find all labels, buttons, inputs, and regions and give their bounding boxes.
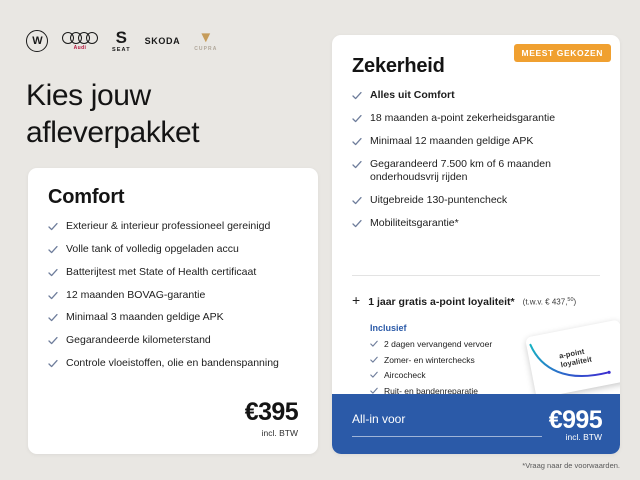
- list-item-label: Volle tank of volledig opgeladen accu: [66, 243, 239, 257]
- skoda-logo: SKODA: [145, 36, 181, 46]
- audi-logo: Audi: [62, 32, 98, 51]
- loyalty-value-suffix: ): [574, 298, 577, 307]
- list-item-label: Mobiliteitsgarantie*: [370, 217, 459, 231]
- list-item: Gegarandeerde kilometerstand: [48, 334, 298, 348]
- loyalty-bonus-label: 1 jaar gratis a-point loyaliteit*: [368, 296, 514, 308]
- footnote: *Vraag naar de voorwaarden.: [522, 461, 620, 470]
- zekerheid-package-card[interactable]: MEEST GEKOZEN Zekerheid Alles uit Comfor…: [332, 35, 620, 454]
- allin-label: All-in voor: [352, 412, 405, 426]
- section-divider: [352, 275, 600, 276]
- list-item: Minimaal 3 maanden geldige APK: [48, 311, 298, 325]
- list-item-label: Gegarandeerd 7.500 km of 6 maanden onder…: [370, 158, 602, 186]
- zekerheid-price: €995: [549, 406, 602, 435]
- seat-logo-label: SEAT: [112, 47, 131, 53]
- check-icon: [48, 222, 58, 232]
- list-item-label: Minimaal 12 maanden geldige APK: [370, 135, 533, 149]
- audi-logo-label: Audi: [74, 45, 87, 51]
- cupra-logo-label: CUPRA: [194, 46, 217, 52]
- seat-logo: S SEAT: [112, 30, 131, 53]
- check-icon: [352, 219, 362, 229]
- check-icon: [48, 291, 58, 301]
- cupra-icon: ▼: [198, 31, 213, 45]
- skoda-logo-label: SKODA: [145, 36, 181, 46]
- offer-page: W Audi S SEAT SKODA ▼ CUPRA Kies jouw af…: [0, 0, 640, 480]
- loyalty-bonus-value: (t.w.v. € 437,50): [523, 297, 577, 307]
- list-item: Uitgebreide 130-puntencheck: [352, 194, 602, 208]
- volkswagen-logo: W: [26, 30, 48, 52]
- list-item: Alles uit Comfort: [352, 89, 602, 103]
- comfort-title: Comfort: [48, 186, 124, 209]
- list-item: Batterijtest met State of Health certifi…: [48, 266, 298, 280]
- list-item: 18 maanden a-point zekerheidsgarantie: [352, 112, 602, 126]
- check-icon: [48, 313, 58, 323]
- plus-icon: +: [352, 293, 360, 307]
- check-icon: [370, 371, 378, 379]
- list-item-label: Gegarandeerde kilometerstand: [66, 334, 211, 348]
- check-icon: [352, 137, 362, 147]
- zekerheid-feature-list: Alles uit Comfort 18 maanden a-point zek…: [352, 89, 602, 240]
- list-item-label: Uitgebreide 130-puntencheck: [370, 194, 507, 208]
- list-item: Mobiliteitsgarantie*: [352, 217, 602, 231]
- comfort-price: €395: [245, 398, 298, 427]
- cupra-logo: ▼ CUPRA: [194, 31, 217, 52]
- list-item-label: Controle vloeistoffen, olie en bandenspa…: [66, 357, 279, 371]
- seat-icon: S: [113, 30, 130, 46]
- loyalty-value-prefix: (t.w.v. € 437,: [523, 298, 568, 307]
- check-icon: [48, 336, 58, 346]
- status-badge: MEEST GEKOZEN: [514, 44, 611, 62]
- comfort-price-block: €395 incl. BTW: [245, 398, 298, 438]
- list-item: 12 maanden BOVAG-garantie: [48, 289, 298, 303]
- check-icon: [48, 268, 58, 278]
- audi-rings-icon: [62, 32, 98, 44]
- list-item: Gegarandeerd 7.500 km of 6 maanden onder…: [352, 158, 602, 186]
- list-item: Exterieur & interieur professioneel gere…: [48, 220, 298, 234]
- check-icon: [352, 91, 362, 101]
- comfort-package-card[interactable]: Comfort Exterieur & interieur profession…: [28, 168, 318, 454]
- zekerheid-price-bar: All-in voor €995 incl. BTW: [332, 394, 620, 454]
- list-item-label: Aircocheck: [384, 370, 426, 381]
- check-icon: [352, 196, 362, 206]
- check-icon: [352, 114, 362, 124]
- list-item-label: 12 maanden BOVAG-garantie: [66, 289, 205, 303]
- loyalty-bonus-row: + 1 jaar gratis a-point loyaliteit* (t.w…: [352, 293, 614, 308]
- list-item: Minimaal 12 maanden geldige APK: [352, 135, 602, 149]
- list-item-label: Alles uit Comfort: [370, 89, 455, 103]
- zekerheid-title: Zekerheid: [352, 55, 445, 78]
- comfort-feature-list: Exterieur & interieur professioneel gere…: [48, 220, 298, 380]
- list-item-label: Batterijtest met State of Health certifi…: [66, 266, 256, 280]
- check-icon: [48, 359, 58, 369]
- list-item-label: 2 dagen vervangend vervoer: [384, 339, 492, 350]
- list-item-label: Minimaal 3 maanden geldige APK: [66, 311, 224, 325]
- list-item-label: Zomer- en winterchecks: [384, 355, 475, 366]
- brand-logo-strip: W Audi S SEAT SKODA ▼ CUPRA: [26, 28, 217, 54]
- check-icon: [370, 356, 378, 364]
- zekerheid-vat-label: incl. BTW: [566, 432, 602, 442]
- comfort-vat-label: incl. BTW: [245, 428, 298, 438]
- volkswagen-icon: W: [26, 30, 48, 52]
- check-icon: [352, 160, 362, 170]
- list-item-label: Exterieur & interieur professioneel gere…: [66, 220, 270, 234]
- inclusief-title: Inclusief: [370, 323, 560, 333]
- list-item-label: 18 maanden a-point zekerheidsgarantie: [370, 112, 555, 126]
- list-item: Controle vloeistoffen, olie en bandenspa…: [48, 357, 298, 371]
- check-icon: [370, 340, 378, 348]
- list-item: Volle tank of volledig opgeladen accu: [48, 243, 298, 257]
- price-rule: [352, 436, 542, 437]
- page-title: Kies jouw afleverpakket: [26, 78, 306, 151]
- check-icon: [48, 245, 58, 255]
